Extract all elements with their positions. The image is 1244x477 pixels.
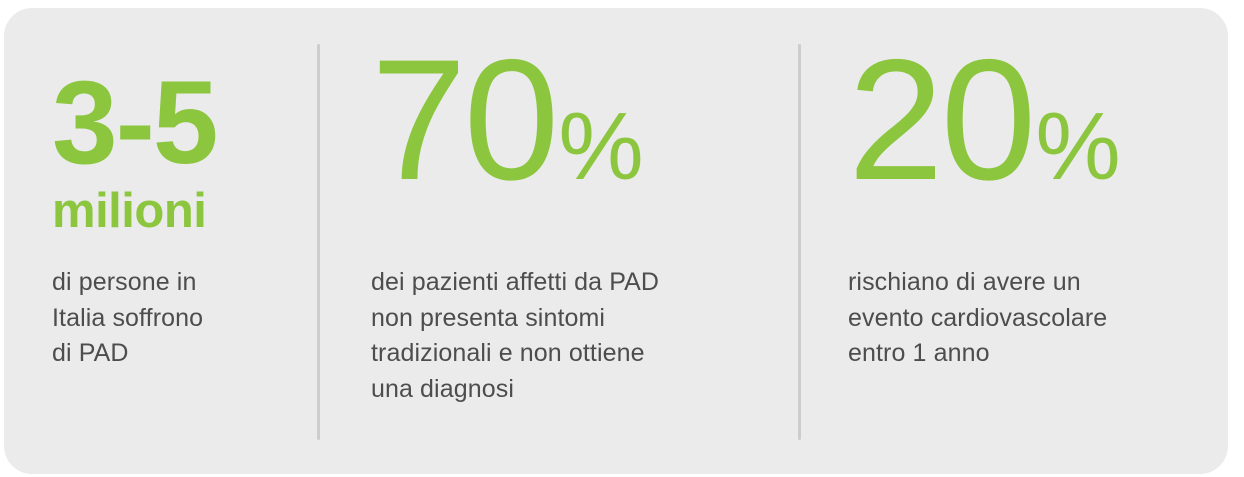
stat-description-1: di persone in Italia soffrono di PAD [52,265,317,372]
description-line: entro 1 anno [848,336,1228,372]
percent-symbol-3: % [1035,99,1119,195]
percent-symbol-2: % [558,99,642,195]
description-line: di persone in [52,265,317,301]
stat-column-2: 70% dei pazienti affetti da PAD non pres… [317,8,798,474]
stat-column-1: 3-5 milioni di persone in Italia soffron… [4,8,317,474]
stat-figure-2: 70% [371,34,798,206]
figure-block-1: 3-5 milioni [52,8,317,253]
statistics-card: 3-5 milioni di persone in Italia soffron… [4,8,1228,474]
stat-column-3: 20% rischiano di avere un evento cardiov… [798,8,1228,474]
description-line: dei pazienti affetti da PAD [371,265,771,301]
description-line: evento cardiovascolare [848,301,1228,337]
stat-description-2: dei pazienti affetti da PAD non presenta… [371,265,771,407]
column-divider-2 [798,44,801,440]
stat-description-3: rischiano di avere un evento cardiovasco… [848,265,1228,372]
figure-block-3: 20% [848,8,1228,253]
description-line: tradizionali e non ottiene [371,336,771,372]
description-line: Italia soffrono [52,301,317,337]
stat-unit-1: milioni [52,186,317,237]
stat-figure-1: 3-5 [52,66,317,182]
description-line: di PAD [52,336,317,372]
stat-figure-3: 20% [848,34,1228,206]
figure-block-2: 70% [371,8,798,253]
description-line: rischiano di avere un [848,265,1228,301]
stat-figure-value-2: 70 [371,34,556,206]
description-line: una diagnosi [371,372,771,408]
stat-figure-value-3: 20 [848,34,1033,206]
column-divider-1 [317,44,320,440]
description-line: non presenta sintomi [371,301,771,337]
